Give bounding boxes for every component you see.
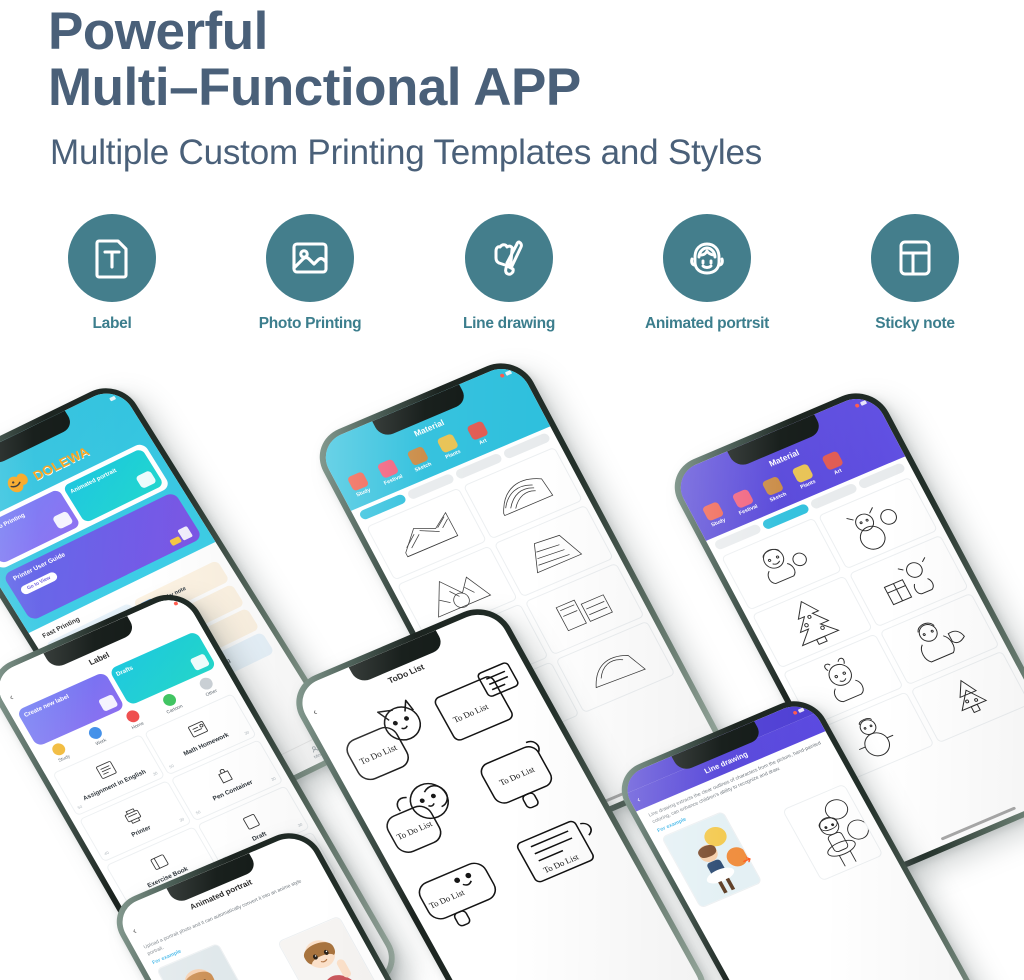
title-line-2: Multi–Functional APP: [48, 60, 581, 116]
feature-label-text: Animated portrsit: [612, 315, 802, 333]
home-indicator: [940, 806, 1016, 841]
example-photo-lineart: [782, 784, 884, 882]
template-height: 30: [152, 771, 158, 777]
feature-photo-printing[interactable]: Photo Printing: [215, 214, 405, 333]
svg-text:To Do List: To Do List: [358, 742, 399, 766]
template-width: 50: [77, 804, 83, 810]
face-portrait-icon: [663, 214, 751, 302]
template-width: 40: [103, 850, 109, 856]
svg-text:To Do List: To Do List: [497, 764, 537, 787]
feature-label-text: Sticky note: [820, 315, 1010, 333]
back-icon[interactable]: ‹: [635, 795, 642, 804]
svg-text:To Do List: To Do List: [541, 852, 581, 875]
template-height: 30: [297, 822, 303, 828]
create-label-icon: [97, 694, 118, 712]
category-label: Art: [833, 468, 843, 476]
title-line-1: Powerful: [48, 4, 581, 60]
back-icon[interactable]: ‹: [311, 707, 319, 718]
label-tag-icon: [68, 214, 156, 302]
paint-brush-icon: [465, 214, 553, 302]
template-width: 50: [195, 809, 201, 815]
page-title: Powerful Multi–Functional APP: [48, 4, 581, 116]
template-width: 50: [168, 763, 174, 769]
svg-text:To Do List: To Do List: [451, 701, 491, 724]
template-height: 30: [179, 817, 185, 823]
photo-image-icon: [266, 214, 354, 302]
back-icon[interactable]: ‹: [131, 926, 139, 936]
feature-animated-portrait[interactable]: Animated portrsit: [612, 214, 802, 333]
portrait-tile-icon: [135, 470, 157, 489]
template-height: 30: [244, 730, 250, 736]
drafts-icon: [190, 653, 211, 671]
page-subtitle: Multiple Custom Printing Templates and S…: [50, 133, 762, 173]
back-icon[interactable]: ‹: [7, 692, 15, 702]
photo-tile-icon: [51, 511, 73, 530]
feature-label[interactable]: Label: [17, 214, 207, 333]
feature-label-text: Photo Printing: [215, 315, 405, 333]
svg-text:To Do List: To Do List: [395, 818, 435, 841]
phone-mockup-group: + Add Device DOLEWA: [0, 360, 1024, 980]
category-label: Art: [478, 438, 488, 446]
poster-root: Powerful Multi–Functional APP Multiple C…: [0, 0, 1024, 980]
feature-sticky-note[interactable]: Sticky note: [820, 214, 1010, 333]
template-height: 30: [270, 776, 276, 782]
feature-line-drawing[interactable]: Line drawing: [414, 214, 604, 333]
feature-label-text: Label: [17, 315, 207, 333]
sticky-note-layout-icon: [871, 214, 959, 302]
feature-icon-row: Label Photo Printing Line drawing: [0, 214, 1024, 359]
feature-label-text: Line drawing: [414, 315, 604, 333]
svg-text:To Do List: To Do List: [427, 887, 467, 910]
